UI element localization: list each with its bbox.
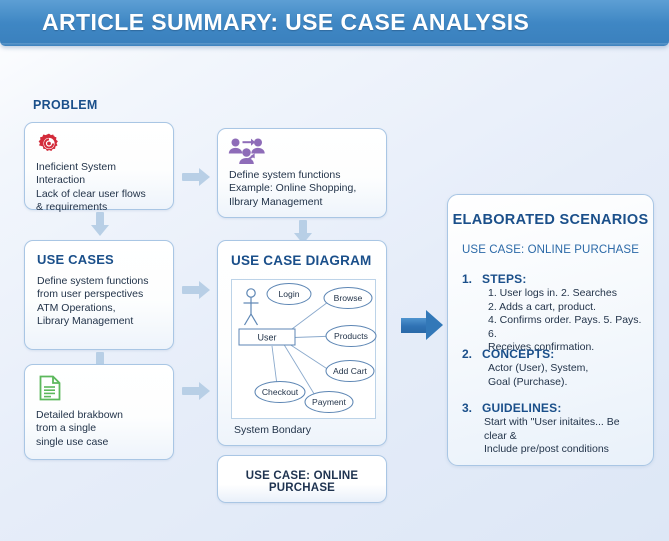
arrow-right-usecases: [182, 281, 212, 299]
green-document-icon: [38, 375, 62, 401]
strip-label: USE CASE: ONLINE PURCHASE: [218, 470, 386, 494]
card-detailed-breakdown-body: Detailed brakbown trom a single single u…: [36, 409, 167, 449]
arrow-right-detail: [182, 382, 212, 400]
system-boundary-label: System Bondary: [234, 424, 311, 436]
card-problem: Ineficient System Interaction Lack of cl…: [24, 122, 174, 210]
panel-item-steps: 1. STEPS: 1. User logs in. 2. Searches 2…: [462, 272, 643, 344]
strip-use-case-online-purchase: USE CASE: ONLINE PURCHASE: [217, 455, 387, 503]
arrow-down-problem-to-usecases: [91, 212, 109, 236]
panel-item-guidelines-text: Start with "User initaites... Be clear &…: [484, 416, 643, 457]
page-title: ARTICLE SUMMARY: USE CASE ANALYSIS: [42, 9, 529, 36]
usecase-label-login: Login: [278, 289, 299, 299]
panel-item-concepts: 2. CONCEPTS: Actor (User), System, Goal …: [462, 347, 643, 393]
purple-people-group-icon: [228, 137, 266, 165]
card-define-functions-body: Define system functions Example: Online …: [229, 169, 380, 209]
panel-item-guidelines: 3. GUIDELINES: Start with "User initaite…: [462, 401, 643, 447]
usecase-label-products: Products: [334, 331, 368, 341]
panel-title: ELABORATED SCENARIOS: [448, 212, 653, 228]
card-use-cases-title: USE CASES: [37, 252, 114, 267]
panel-item-guidelines-number: 3.: [462, 401, 472, 415]
panel-item-steps-text: 1. User logs in. 2. Searches 2. Adds a c…: [488, 287, 643, 355]
actor-label: User: [257, 333, 276, 343]
use-case-diagram-svg: User Login Browse Products Add Cart Chec…: [232, 280, 377, 420]
card-use-cases-body: Define system functions from user perspe…: [37, 275, 167, 329]
panel-item-guidelines-heading: GUIDELINES:: [482, 401, 562, 415]
usecase-label-browse: Browse: [334, 293, 363, 303]
use-case-diagram-title: USE CASE DIAGRAM: [231, 253, 371, 268]
panel-subtitle: USE CASE: ONLINE PURCHASE: [448, 244, 653, 256]
diagram-system-boundary-frame: User Login Browse Products Add Cart Chec…: [231, 279, 376, 419]
panel-item-concepts-text: Actor (User), System, Goal (Purchase).: [488, 362, 643, 389]
red-gear-target-icon: [37, 132, 61, 156]
card-define-functions: Define system functions Example: Online …: [217, 128, 387, 218]
panel-item-concepts-heading: CONCEPTS:: [482, 347, 554, 361]
panel-item-steps-heading: STEPS:: [482, 272, 527, 286]
header-banner: ARTICLE SUMMARY: USE CASE ANALYSIS: [0, 0, 669, 46]
arrow-big-to-scenarios: [401, 310, 446, 341]
arrow-down-to-diagram: [294, 220, 312, 242]
card-problem-body: Ineficient System Interaction Lack of cl…: [36, 161, 167, 215]
usecase-label-addcart: Add Cart: [333, 366, 368, 376]
card-detailed-breakdown: Detailed brakbown trom a single single u…: [24, 364, 174, 460]
usecase-label-checkout: Checkout: [262, 387, 299, 397]
card-use-case-diagram: USE CASE DIAGRAM: [217, 240, 387, 446]
panel-item-concepts-number: 2.: [462, 347, 472, 361]
infographic-canvas: ARTICLE SUMMARY: USE CASE ANALYSIS PROBL…: [0, 0, 669, 541]
usecase-label-payment: Payment: [312, 397, 347, 407]
panel-item-steps-number: 1.: [462, 272, 472, 286]
section-label-problem: PROBLEM: [33, 98, 98, 112]
arrow-right-problem: [182, 168, 212, 186]
card-use-cases: USE CASES Define system functions from u…: [24, 240, 174, 350]
panel-elaborated-scenarios: ELABORATED SCENARIOS USE CASE: ONLINE PU…: [447, 194, 654, 466]
